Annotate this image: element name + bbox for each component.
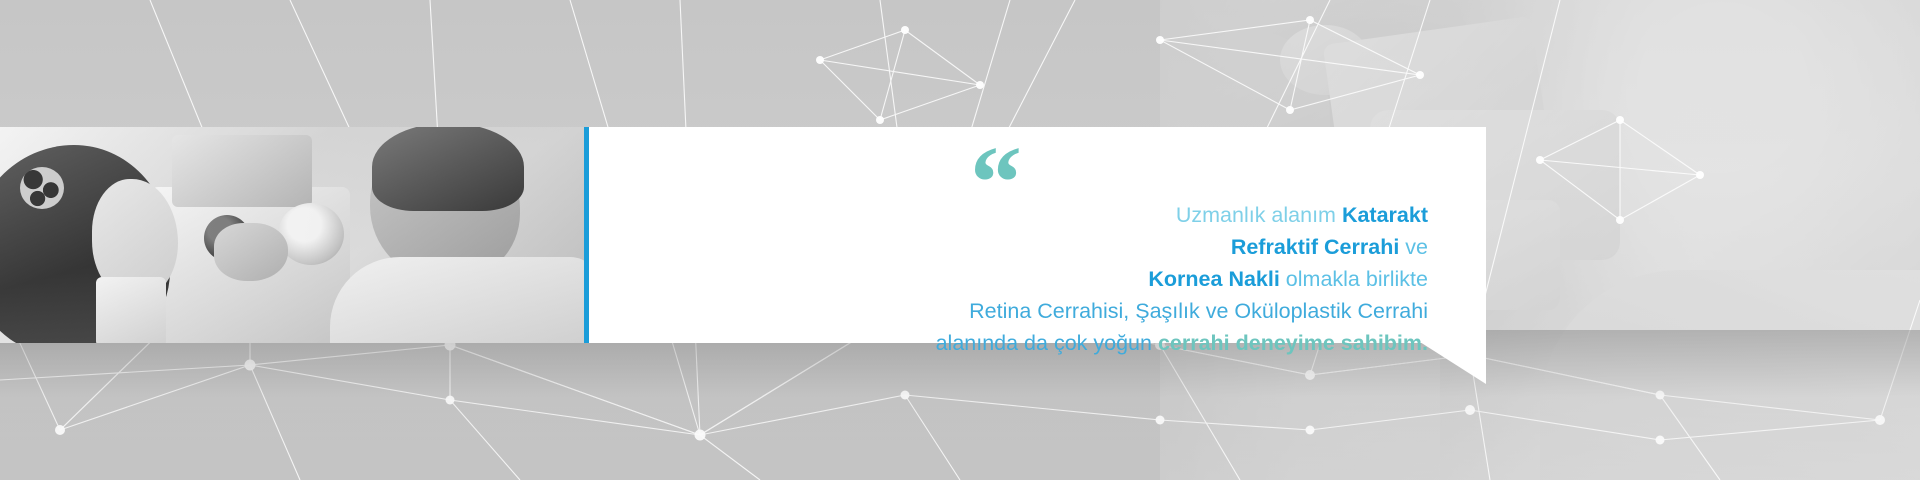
quote-line-1: Uzmanlık alanım Katarakt (936, 199, 1428, 231)
quote-line-2-suffix: ve (1399, 235, 1428, 259)
quote-line-4-text: Retina Cerrahisi, Şaşılık ve Oküloplasti… (969, 299, 1428, 323)
quote-line-3-emphasis: Kornea Nakli (1148, 267, 1279, 291)
quote-banner: “ Uzmanlık alanım Katarakt Refraktif Cer… (0, 0, 1920, 480)
quote-line-4: Retina Cerrahisi, Şaşılık ve Oküloplasti… (936, 295, 1428, 327)
speech-bubble-tail (1420, 342, 1500, 384)
quote-line-1-prefix: Uzmanlık alanım (1176, 203, 1342, 227)
quote-card: “ Uzmanlık alanım Katarakt Refraktif Cer… (584, 127, 1486, 343)
quote-line-3-suffix: olmakla birlikte (1280, 267, 1428, 291)
quote-text: Uzmanlık alanım Katarakt Refraktif Cerra… (936, 199, 1428, 359)
clinic-photo (0, 127, 584, 343)
quote-line-5-emphasis: cerrahi deneyime sahibim. (1158, 331, 1428, 355)
quote-line-3: Kornea Nakli olmakla birlikte (936, 263, 1428, 295)
quote-line-2: Refraktif Cerrahi ve (936, 231, 1428, 263)
quote-line-2-emphasis: Refraktif Cerrahi (1231, 235, 1399, 259)
quote-line-5-prefix: alanında da çok yoğun (936, 331, 1158, 355)
quote-line-5: alanında da çok yoğun cerrahi deneyime s… (936, 327, 1428, 359)
quote-mark-icon: “ (970, 151, 1020, 197)
quote-line-1-emphasis: Katarakt (1342, 203, 1428, 227)
